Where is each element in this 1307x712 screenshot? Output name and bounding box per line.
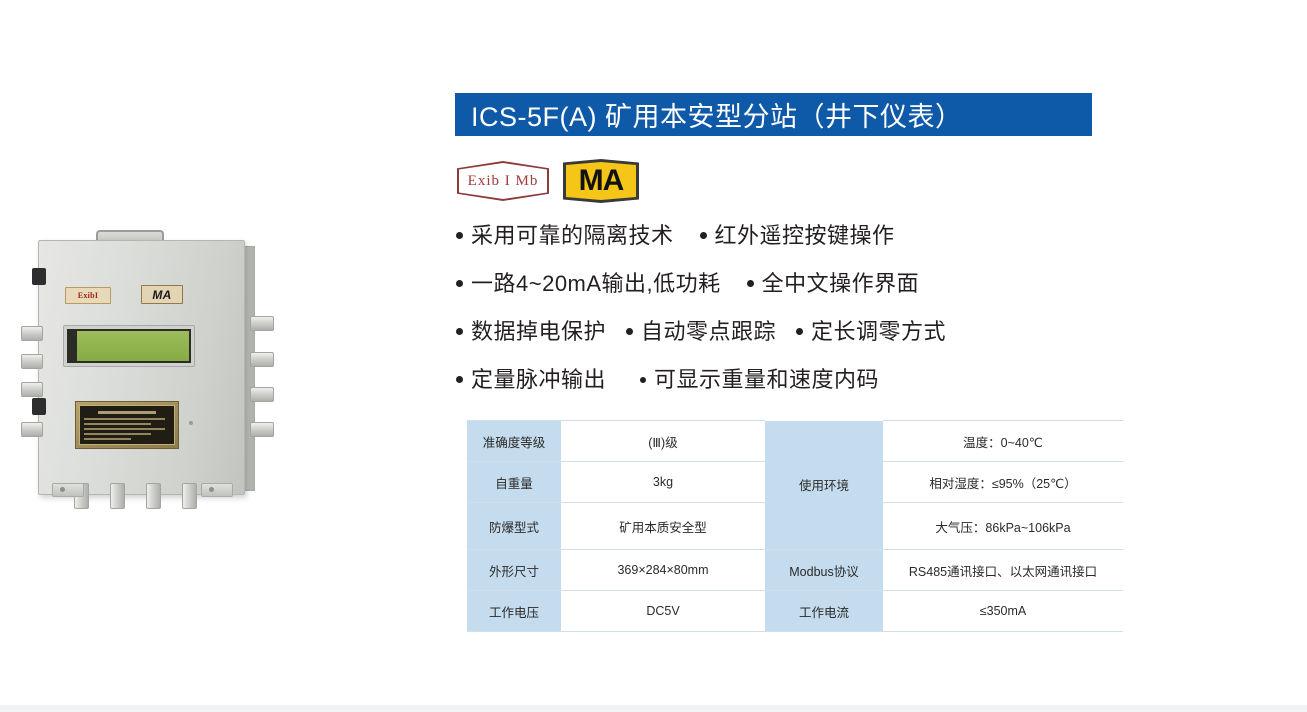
spec-label: 外形尺寸 xyxy=(467,550,561,591)
device-ma-label: MA xyxy=(141,285,183,304)
certification-badges: Exib I Mb MA xyxy=(457,159,639,203)
exib-badge-icon: Exib I Mb xyxy=(457,161,549,201)
feature-label: 数据掉电保护 xyxy=(471,314,606,346)
spec-label: 自重量 xyxy=(467,462,561,503)
spec-mid-label: 工作电流 xyxy=(765,591,883,632)
cable-gland-left xyxy=(21,382,43,397)
spec-mid-label: 使用环境 xyxy=(765,421,883,550)
cable-gland-right xyxy=(250,352,274,367)
cable-gland-right xyxy=(250,316,274,331)
nameplate-engraving xyxy=(79,405,175,445)
feature-item: 全中文操作界面 xyxy=(747,266,920,298)
feature-item: 采用可靠的隔离技术 xyxy=(456,218,674,250)
feature-list: 采用可靠的隔离技术 红外遥控按键操作 一路4~20mA输出,低功耗 全中文操作界… xyxy=(456,218,1092,410)
bullet-icon xyxy=(796,328,803,335)
cable-gland-bottom xyxy=(110,483,125,509)
feature-label: 采用可靠的隔离技术 xyxy=(471,218,674,250)
spec-value2: 大气压：86kPa~106kPa xyxy=(883,503,1123,550)
spec-value2: ≤350mA xyxy=(883,591,1123,632)
mounting-foot xyxy=(52,483,84,497)
mounting-foot xyxy=(201,483,233,497)
spec-value2: RS485通讯接口、以太网通讯接口 xyxy=(883,550,1123,591)
ma-badge-icon: MA xyxy=(563,159,639,203)
device-front-face: ExibI MA xyxy=(38,240,245,495)
table-row: 工作电压 DC5V 工作电流 ≤350mA xyxy=(467,591,1123,632)
spec-value: (Ⅲ)级 xyxy=(561,421,765,462)
bullet-icon xyxy=(456,328,463,335)
feature-label: 一路4~20mA输出,低功耗 xyxy=(471,266,721,298)
spec-value2: 温度：0~40℃ xyxy=(883,421,1123,462)
feature-item: 红外遥控按键操作 xyxy=(700,218,895,250)
device-lcd-window xyxy=(63,325,195,367)
exib-badge-label: Exib I Mb xyxy=(468,173,539,190)
bullet-icon xyxy=(640,377,646,383)
table-row: 外形尺寸 369×284×80mm Modbus协议 RS485通讯接口、以太网… xyxy=(467,550,1123,591)
spec-value: 3kg xyxy=(561,462,765,503)
spec-mid-label: Modbus协议 xyxy=(765,550,883,591)
feature-label: 定长调零方式 xyxy=(811,314,946,346)
bullet-icon xyxy=(456,376,463,383)
page-bottom-edge xyxy=(0,705,1307,712)
feature-row: 定量脉冲输出 可显示重量和速度内码 xyxy=(456,362,1092,410)
specification-table: 准确度等级 (Ⅲ)级 使用环境 温度：0~40℃ 自重量 3kg 相对湿度：≤9… xyxy=(467,420,1123,632)
device-exib-label: ExibI xyxy=(65,287,111,304)
bullet-icon xyxy=(456,232,463,239)
spec-label: 工作电压 xyxy=(467,591,561,632)
bullet-icon xyxy=(700,232,707,239)
product-title-bar: ICS-5F(A) 矿用本安型分站（井下仪表） xyxy=(455,93,1092,136)
ma-badge-label: MA xyxy=(579,164,624,198)
device-nameplate xyxy=(75,401,179,449)
feature-item: 一路4~20mA输出,低功耗 xyxy=(456,266,721,298)
feature-row: 采用可靠的隔离技术 红外遥控按键操作 xyxy=(456,218,1092,266)
cable-gland-right xyxy=(250,422,274,437)
cable-gland-left xyxy=(21,422,43,437)
spec-value: 矿用本质安全型 xyxy=(561,503,765,550)
cable-gland-bottom xyxy=(182,483,197,509)
device-screw xyxy=(189,421,193,425)
device-left-connector xyxy=(32,398,46,415)
feature-row: 一路4~20mA输出,低功耗 全中文操作界面 xyxy=(456,266,1092,314)
device-left-connector xyxy=(32,268,46,285)
table-row: 准确度等级 (Ⅲ)级 使用环境 温度：0~40℃ xyxy=(467,421,1123,462)
spec-value: DC5V xyxy=(561,591,765,632)
feature-label: 自动零点跟踪 xyxy=(641,314,776,346)
feature-label: 定量脉冲输出 xyxy=(471,362,606,394)
bullet-icon xyxy=(626,328,633,335)
feature-item: 可显示重量和速度内码 xyxy=(640,362,879,394)
product-photo: ExibI MA xyxy=(0,205,330,550)
feature-item: 自动零点跟踪 xyxy=(626,314,776,346)
feature-label: 红外遥控按键操作 xyxy=(715,218,895,250)
spec-label: 防爆型式 xyxy=(467,503,561,550)
lcd-screen xyxy=(77,331,189,361)
device-enclosure: ExibI MA xyxy=(38,230,260,505)
bullet-icon xyxy=(747,280,754,287)
product-info-panel: ICS-5F(A) 矿用本安型分站（井下仪表） Exib I Mb MA 采用可… xyxy=(455,0,1095,712)
bullet-icon xyxy=(456,280,463,287)
cable-gland-bottom xyxy=(146,483,161,509)
feature-item: 数据掉电保护 xyxy=(456,314,606,346)
spec-label: 准确度等级 xyxy=(467,421,561,462)
spec-value: 369×284×80mm xyxy=(561,550,765,591)
lcd-bezel xyxy=(67,329,191,363)
spec-value2: 相对湿度：≤95%（25℃） xyxy=(883,462,1123,503)
feature-item: 定量脉冲输出 xyxy=(456,362,606,394)
feature-label: 可显示重量和速度内码 xyxy=(654,362,879,394)
page-title: ICS-5F(A) 矿用本安型分站（井下仪表） xyxy=(471,95,963,134)
feature-label: 全中文操作界面 xyxy=(762,266,920,298)
cable-gland-right xyxy=(250,387,274,402)
feature-item: 定长调零方式 xyxy=(796,314,946,346)
feature-row: 数据掉电保护 自动零点跟踪 定长调零方式 xyxy=(456,314,1092,362)
cable-gland-left xyxy=(21,326,43,341)
cable-gland-left xyxy=(21,354,43,369)
